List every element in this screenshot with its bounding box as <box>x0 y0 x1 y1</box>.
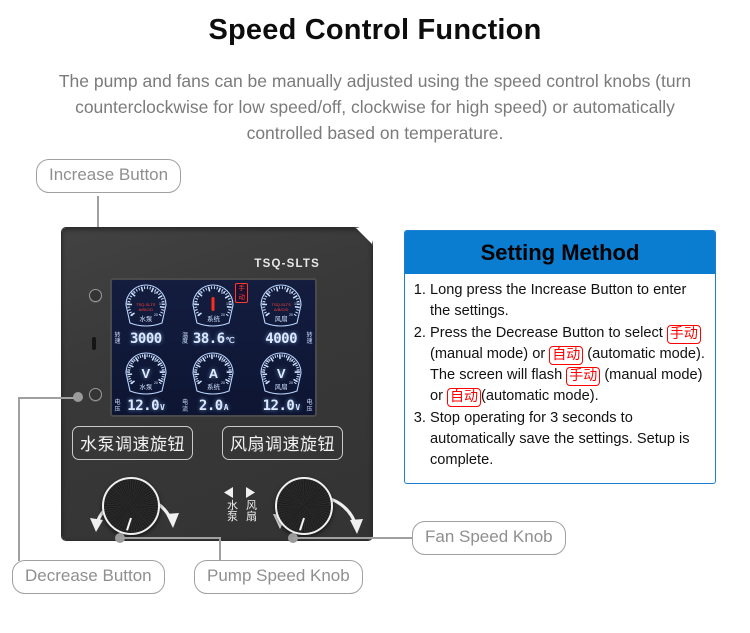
svg-text:80: 80 <box>221 291 225 295</box>
gauge-pump-voltage: 608040100020V水泵电压12.0V <box>112 348 180 416</box>
gauge-system-temp: 608040100020系统温度38.6℃手动 <box>180 280 248 348</box>
pump-left-triangle-icon <box>222 486 236 500</box>
fan-right-triangle-icon <box>243 486 257 500</box>
gauge-name-label: 系统 <box>180 313 248 323</box>
page-subtitle: The pump and fans can be manually adjust… <box>45 68 705 146</box>
svg-text:40: 40 <box>126 302 130 306</box>
gauge-value: 3000 <box>112 331 180 347</box>
svg-text:60: 60 <box>266 359 270 363</box>
callout-fan-speed-knob: Fan Speed Knob <box>412 521 566 555</box>
gauge-name-label: 风扇 <box>247 381 315 391</box>
svg-text:60: 60 <box>131 291 135 295</box>
gauge-value: 12.0V <box>112 398 180 414</box>
device-corner-cut <box>356 228 372 244</box>
mode-badge: 手动 <box>235 283 248 303</box>
gauge-value: 2.0A <box>180 398 248 414</box>
svg-text:80: 80 <box>221 359 225 363</box>
dial-unit-letter: V <box>141 366 150 381</box>
gauge-value: 38.6℃ <box>180 331 248 347</box>
mode-keyword-badge: 手动 <box>667 325 701 344</box>
pump-speed-knob[interactable] <box>102 477 160 535</box>
svg-text:60: 60 <box>198 291 202 295</box>
gauge-fan-rpm: 608040100020TSQ-SLTSA/B/C/D风扇转速4000 <box>247 280 315 348</box>
increase-button[interactable] <box>89 289 102 302</box>
pump-knob-cn-label: 水泵调速旋钮 <box>72 426 193 460</box>
gauge-pump-rpm: 608040100020TSQ-SLTSA/B/C/D水泵转速3000 <box>112 280 180 348</box>
gauge-name-label: 水泵 <box>112 381 180 391</box>
gauge-name-label: 风扇 <box>247 313 315 323</box>
setting-method-panel: Setting Method Long press the Increase B… <box>404 230 716 484</box>
dial-unit-letter: A <box>209 366 218 381</box>
callout-pump-speed-knob: Pump Speed Knob <box>194 560 363 594</box>
setting-step: Stop operating for 3 seconds to automati… <box>430 408 707 471</box>
gauge-value: 12.0V <box>247 398 315 414</box>
gauge-name-label: 水泵 <box>112 313 180 323</box>
gauge-unit: ℃ <box>226 336 234 345</box>
leader-fan-h <box>293 537 413 539</box>
fan-knob-marker: 风扇 <box>246 500 258 522</box>
svg-text:40: 40 <box>126 370 130 374</box>
setting-step: Press the Decrease Button to select 手动 (… <box>430 323 707 407</box>
svg-text:100: 100 <box>294 302 300 306</box>
leader-pump-h <box>120 537 220 539</box>
dial-unit-letter: V <box>277 366 286 381</box>
page-title: Speed Control Function <box>0 14 750 47</box>
callout-decrease-button: Decrease Button <box>12 560 165 594</box>
svg-text:60: 60 <box>266 291 270 295</box>
gauge-name-label: 系统 <box>180 381 248 391</box>
gauge-system-current: 608040100020A系统电流2.0A <box>180 348 248 416</box>
svg-text:100: 100 <box>294 370 300 374</box>
svg-text:40: 40 <box>193 302 197 306</box>
callout-increase-button: Increase Button <box>36 159 181 193</box>
gauge-grid: 608040100020TSQ-SLTSA/B/C/D水泵转速300060804… <box>112 280 315 415</box>
svg-text:40: 40 <box>261 370 265 374</box>
mode-keyword-badge: 自动 <box>549 346 583 365</box>
dial-center-red-text: TSQ-SLTSA/B/C/D <box>136 303 155 312</box>
gauge-value: 4000 <box>247 331 315 347</box>
lcd-screen: 608040100020TSQ-SLTSA/B/C/D水泵转速300060804… <box>110 278 317 417</box>
leader-pump-v <box>219 537 221 561</box>
decrease-button[interactable] <box>89 388 102 401</box>
setting-step: Long press the Increase Button to enter … <box>430 280 707 322</box>
svg-text:100: 100 <box>226 302 232 306</box>
svg-text:80: 80 <box>289 291 293 295</box>
setting-method-title: Setting Method <box>405 231 715 274</box>
svg-text:40: 40 <box>261 302 265 306</box>
svg-text:80: 80 <box>154 291 158 295</box>
svg-text:100: 100 <box>159 302 165 306</box>
dial-center-red-text: TSQ-SLTSA/B/C/D <box>272 303 291 312</box>
gauge-unit: V <box>295 403 299 412</box>
device-model-label: TSQ-SLTS <box>254 258 320 270</box>
gauge-unit: A <box>224 403 228 412</box>
controller-device: TSQ-SLTS 608040100020TSQ-SLTSA/B/C/D水泵转速… <box>62 228 372 540</box>
pump-knob-marker: 水泵 <box>227 500 239 522</box>
svg-text:40: 40 <box>193 370 197 374</box>
mode-keyword-badge: 手动 <box>566 367 600 386</box>
thermometer-icon <box>212 297 215 311</box>
leader-decrease-h <box>18 397 76 399</box>
gauge-fan-voltage: 608040100020V风扇电压12.0V <box>247 348 315 416</box>
setting-method-body: Long press the Increase Button to enter … <box>405 274 715 476</box>
mode-keyword-badge: 自动 <box>447 388 481 407</box>
svg-text:100: 100 <box>159 370 165 374</box>
device-slot <box>92 337 96 350</box>
svg-text:100: 100 <box>226 370 232 374</box>
fan-speed-knob[interactable] <box>275 477 333 535</box>
svg-text:60: 60 <box>131 359 135 363</box>
fan-knob-cn-label: 风扇调速旋钮 <box>222 426 343 460</box>
svg-text:80: 80 <box>289 359 293 363</box>
leader-decrease-v <box>18 397 20 561</box>
svg-text:60: 60 <box>198 359 202 363</box>
svg-text:80: 80 <box>154 359 158 363</box>
gauge-unit: V <box>160 403 164 412</box>
setting-steps-list: Long press the Increase Button to enter … <box>411 280 707 471</box>
